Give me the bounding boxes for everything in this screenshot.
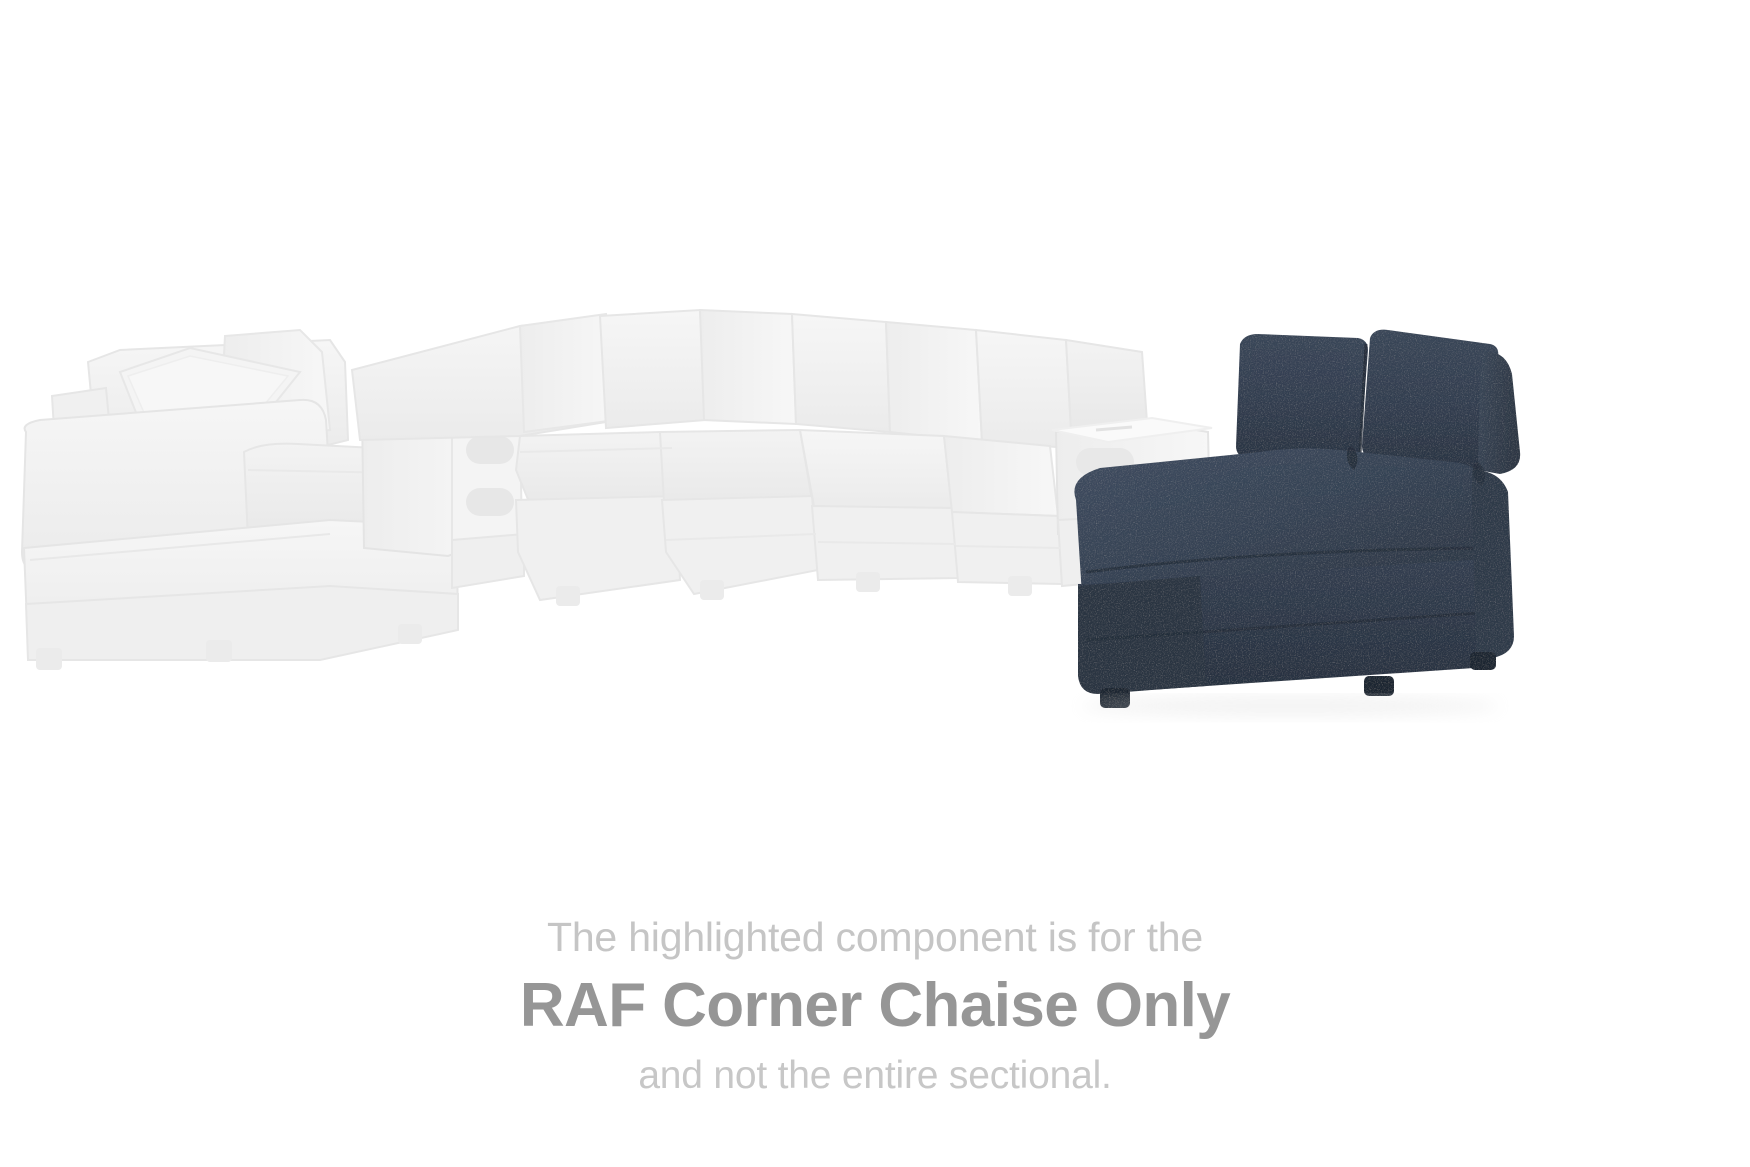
ghost-armless-seat-right <box>944 436 1062 596</box>
ghost-back-cushion-row <box>600 310 1148 448</box>
sectional-sofa-illustration <box>0 0 1750 800</box>
product-callout-page: The highlighted component is for the RAF… <box>0 0 1750 1167</box>
chaise-contact-shadow <box>1080 697 1500 715</box>
caption-line-bottom: and not the entire sectional. <box>0 1046 1750 1106</box>
ghost-corner-wedge <box>660 430 958 600</box>
callout-caption: The highlighted component is for the RAF… <box>0 908 1750 1106</box>
caption-line-main: RAF Corner Chaise Only <box>0 966 1750 1046</box>
ghosted-sectional-group <box>22 310 1212 670</box>
caption-line-top: The highlighted component is for the <box>0 908 1750 966</box>
